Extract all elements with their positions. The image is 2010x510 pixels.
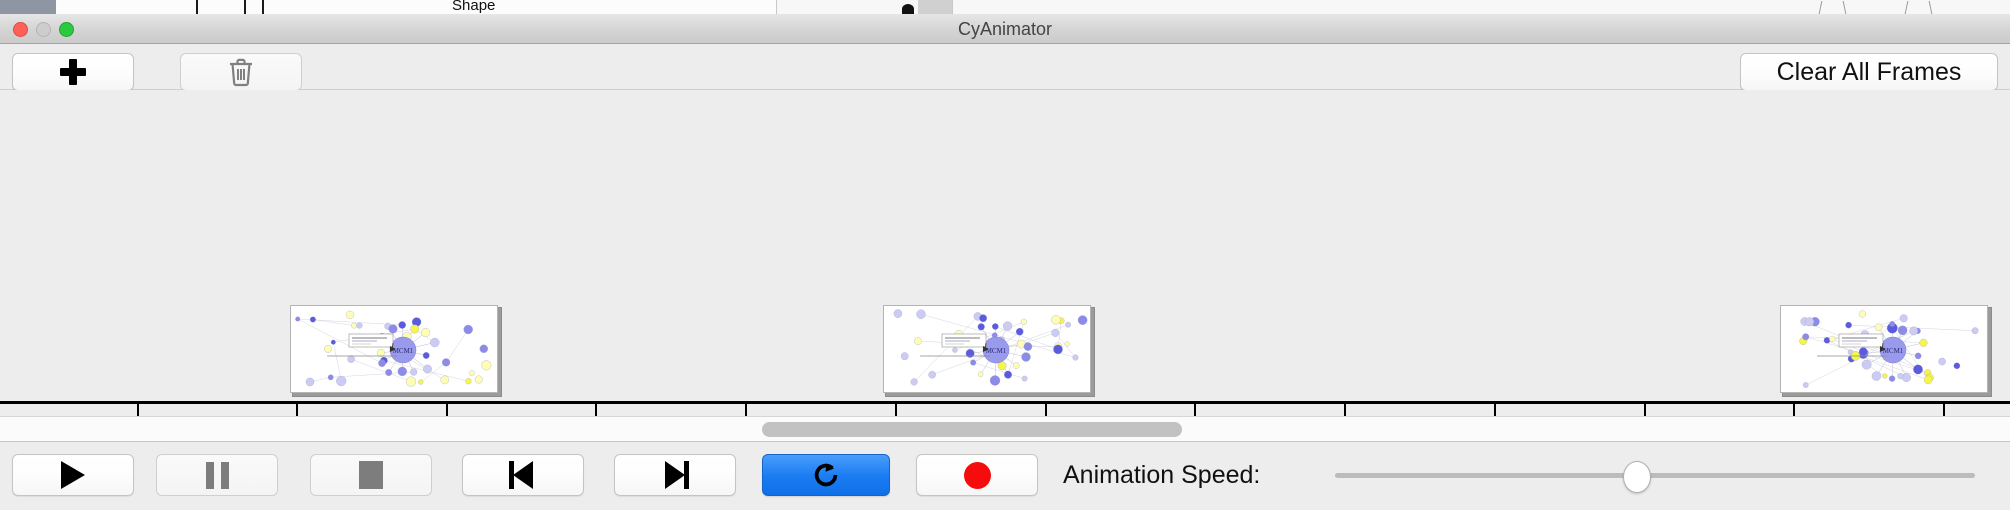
- frame-thumbnail-2[interactable]: MCM1: [883, 305, 1091, 393]
- plus-icon: [60, 59, 86, 85]
- axis-tick-major: [1494, 404, 1496, 416]
- axis-tick-minor: [1045, 404, 1047, 416]
- frame-thumbnail-1[interactable]: MCM1: [290, 305, 498, 393]
- step-forward-button[interactable]: [614, 454, 736, 496]
- pause-icon: [206, 462, 229, 489]
- background-window-strip: Shape: [0, 0, 2010, 15]
- play-button[interactable]: [12, 454, 134, 496]
- window-title: CyAnimator: [0, 14, 2010, 44]
- skip-forward-icon: [661, 461, 689, 489]
- slider-track: [1335, 473, 1975, 478]
- trash-icon: [227, 57, 255, 87]
- svg-text:MCM1: MCM1: [986, 347, 1007, 355]
- cyanimator-window: Shape CyAnimator Clear All Frames: [0, 0, 2010, 510]
- stop-icon: [359, 461, 383, 489]
- pause-button[interactable]: [156, 454, 278, 496]
- animation-speed-slider[interactable]: [1335, 454, 1975, 496]
- background-glyph: [1819, 1, 1823, 14]
- record-button[interactable]: [916, 454, 1038, 496]
- toolbar: Clear All Frames: [0, 45, 2010, 90]
- background-tab: [918, 0, 953, 14]
- axis-tick-major: [296, 404, 298, 416]
- timeline-panel[interactable]: MCM1MCM1MCM1 12131415161718 Seconds: [0, 90, 2010, 416]
- background-tab: [80, 0, 195, 14]
- background-glyph: [1929, 1, 1933, 14]
- background-glyph: [1905, 1, 1909, 14]
- background-tab: [296, 0, 397, 14]
- background-tab-active: [0, 0, 57, 14]
- add-frame-button[interactable]: [12, 53, 134, 91]
- timeline-scrollbar-track[interactable]: [0, 416, 2010, 442]
- background-window-label: Shape: [452, 0, 495, 14]
- axis-tick-minor: [1943, 404, 1945, 416]
- axis-tick-minor: [446, 404, 448, 416]
- timeline-scrollbar-thumb[interactable]: [762, 422, 1182, 437]
- titlebar[interactable]: CyAnimator: [0, 14, 2010, 44]
- step-back-button[interactable]: [462, 454, 584, 496]
- svg-text:MCM1: MCM1: [393, 347, 414, 355]
- loop-button[interactable]: [762, 454, 890, 496]
- background-glyph: [902, 4, 914, 14]
- loop-icon: [811, 460, 841, 490]
- background-tab: [56, 0, 81, 14]
- axis-tick-minor: [1644, 404, 1646, 416]
- axis-tick-minor: [745, 404, 747, 416]
- stop-button[interactable]: [310, 454, 432, 496]
- clear-all-frames-button[interactable]: Clear All Frames: [1740, 53, 1998, 91]
- background-glyph: [262, 0, 264, 14]
- timeline-axis: [0, 401, 2010, 404]
- axis-tick-major: [1194, 404, 1196, 416]
- clear-all-frames-label: Clear All Frames: [1777, 58, 1962, 87]
- slider-thumb[interactable]: [1623, 461, 1651, 493]
- delete-frame-button[interactable]: [180, 53, 302, 91]
- axis-tick-major: [595, 404, 597, 416]
- animation-speed-label: Animation Speed:: [1063, 454, 1260, 496]
- record-icon: [964, 462, 991, 489]
- frame-thumbnail-3[interactable]: MCM1: [1780, 305, 1988, 393]
- playback-controls: Animation Speed:: [0, 443, 2010, 510]
- axis-tick-minor: [137, 404, 139, 416]
- play-icon: [61, 461, 85, 489]
- axis-tick-major: [1793, 404, 1795, 416]
- background-tab: [194, 0, 237, 14]
- background-glyph: [1843, 1, 1847, 14]
- svg-text:MCM1: MCM1: [1883, 347, 1904, 355]
- background-glyph: [196, 0, 198, 14]
- axis-tick-minor: [1344, 404, 1346, 416]
- background-glyph: [244, 0, 246, 14]
- axis-tick-major: [895, 404, 897, 416]
- skip-back-icon: [509, 461, 537, 489]
